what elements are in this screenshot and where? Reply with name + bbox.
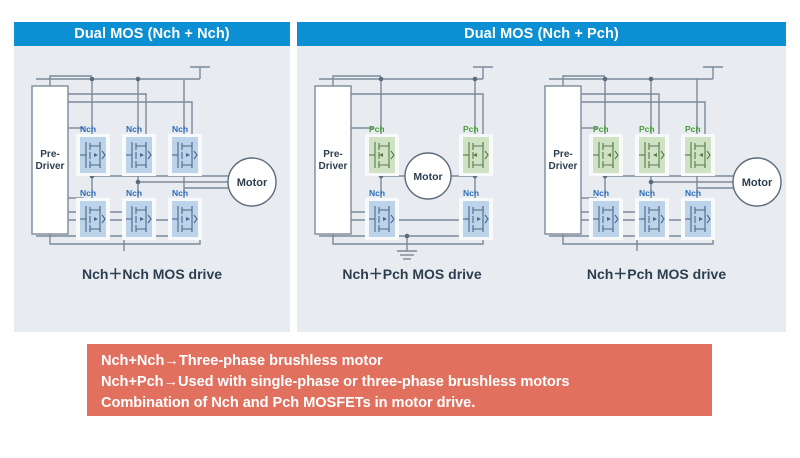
mosfet-label-high-2: Nch — [126, 124, 142, 134]
panel-dual-mos-nch-nch: Dual MOS (Nch + Nch) — [14, 22, 290, 332]
summary-line-1: Nch+Nch→Three-phase brushless motor — [101, 351, 698, 372]
summary-line-3: Combination of Nch and Pch MOSFETs in mo… — [101, 393, 698, 414]
panel-body-nch-nch: Nch Nch Nch Nch Nch Nch Pre- Driver Moto… — [14, 46, 290, 332]
mosfet-high-right — [459, 134, 493, 176]
pre-driver-label-line2: Driver — [319, 161, 348, 172]
summary-line-2: Nch+Pch→Used with single-phase or three-… — [101, 372, 698, 393]
mosfet-low-3 — [681, 198, 715, 240]
mosfet-label-high-1: Nch — [80, 124, 96, 134]
mosfet-low-left — [365, 198, 399, 240]
mosfet-low-1 — [589, 198, 623, 240]
mosfet-low-2 — [122, 198, 156, 240]
mosfet-label-low-3: Nch — [172, 188, 188, 198]
pre-driver-label-line1: Pre- — [553, 149, 572, 160]
mosfet-label-low-2: Nch — [126, 188, 142, 198]
pre-driver-label-line1: Pre- — [323, 149, 342, 160]
mosfet-label-low-3: Nch — [685, 188, 701, 198]
mosfet-label-high-3: Pch — [685, 124, 701, 134]
pre-driver-label-line1: Pre- — [40, 149, 59, 160]
mosfet-label-high-2: Pch — [639, 124, 655, 134]
circuit-caption-nch-nch: Nch＋Nch MOS drive — [14, 264, 290, 284]
circuit-three-phase-nch-pch: Pch Pch Pch Nch Nch Nch Pre- Driver Moto… — [527, 46, 786, 261]
mosfet-high-3 — [168, 134, 202, 176]
mosfet-label-high-left: Pch — [369, 124, 385, 134]
mosfet-label-low-1: Nch — [80, 188, 96, 198]
panel-dual-mos-nch-pch: Dual MOS (Nch + Pch) — [297, 22, 786, 332]
mosfet-high-3 — [681, 134, 715, 176]
circuit-caption-nch-pch-single: Nch＋Pch MOS drive — [297, 264, 527, 284]
mosfet-high-left — [365, 134, 399, 176]
panels-container: Dual MOS (Nch + Nch) — [14, 22, 786, 332]
pre-driver-label-line2: Driver — [36, 161, 65, 172]
summary-box: Nch+Nch→Three-phase brushless motor Nch+… — [87, 344, 712, 416]
circuit-caption-nch-pch-three: Nch＋Pch MOS drive — [527, 264, 786, 284]
mosfet-label-low-2: Nch — [639, 188, 655, 198]
mosfet-low-1 — [76, 198, 110, 240]
panel-header-nch-pch: Dual MOS (Nch + Pch) — [297, 22, 786, 46]
circuit-three-phase-nch-nch: Nch Nch Nch Nch Nch Nch Pre- Driver Moto… — [14, 46, 290, 261]
mosfet-label-high-right: Pch — [463, 124, 479, 134]
motor-label: Motor — [237, 177, 268, 189]
pre-driver-label-line2: Driver — [549, 161, 578, 172]
motor-label: Motor — [413, 171, 442, 183]
mosfet-label-high-3: Nch — [172, 124, 188, 134]
mosfet-label-low-right: Nch — [463, 188, 479, 198]
mosfet-label-high-1: Pch — [593, 124, 609, 134]
panel-header-nch-nch: Dual MOS (Nch + Nch) — [14, 22, 290, 46]
mosfet-low-2 — [635, 198, 669, 240]
mosfet-label-low-1: Nch — [593, 188, 609, 198]
mosfet-high-1 — [589, 134, 623, 176]
mosfet-low-3 — [168, 198, 202, 240]
mosfet-label-low-left: Nch — [369, 188, 385, 198]
circuit-single-phase-nch-pch: Pch Pch Nch Nch Pre- Driver Motor — [297, 46, 527, 261]
panel-body-nch-pch: Pch Pch Nch Nch Pre- Driver Motor Nch＋Pc… — [297, 46, 786, 332]
mosfet-high-2 — [122, 134, 156, 176]
motor-label: Motor — [742, 177, 773, 189]
mosfet-high-2 — [635, 134, 669, 176]
mosfet-low-right — [459, 198, 493, 240]
mosfet-high-1 — [76, 134, 110, 176]
